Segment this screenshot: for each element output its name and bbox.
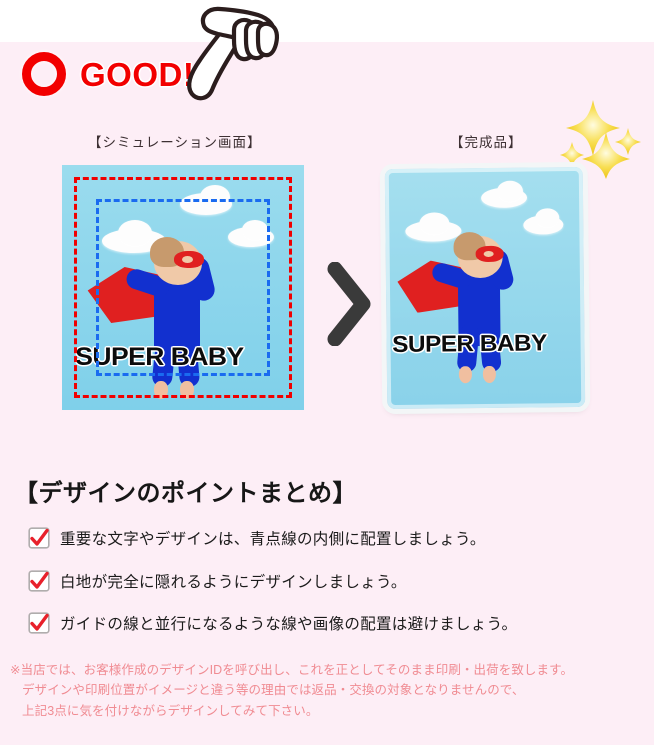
disclaimer-line-1: ※当店では、お客様作成のデザインIDを呼び出し、これを正としてそのまま印刷・出荷… — [10, 660, 650, 680]
chevron-right-icon — [324, 262, 372, 346]
mask-eyehole — [484, 251, 494, 257]
point-text: 白地が完全に隠れるようにデザインしましょう。 — [60, 570, 407, 592]
page-root: GOOD! 【シミュレーション画面】 【完成品】 — [0, 0, 654, 745]
points-title: 【デザインのポイントまとめ】 — [14, 473, 357, 508]
checkbox-checked-icon[interactable] — [28, 527, 50, 549]
blanket-product: SUPER BABY — [385, 167, 586, 409]
baby-foot — [483, 366, 496, 383]
point-item: 白地が完全に隠れるようにデザインしましょう。 — [28, 570, 407, 592]
finished-caption: 【完成品】 — [450, 131, 523, 151]
simulation-preview[interactable]: SUPER BABY — [62, 165, 304, 410]
point-item: ガイドの線と並行になるような線や画像の配置は避けましょう。 — [28, 612, 517, 634]
point-text: 重要な文字やデザインは、青点線の内側に配置しましょう。 — [60, 527, 486, 549]
artwork-title: SUPER BABY — [392, 329, 547, 358]
disclaimer-line-2: デザインや印刷位置がイメージと違う等の理由では返品・交換の対象となりませんので、 — [10, 680, 650, 700]
checkbox-checked-icon[interactable] — [28, 570, 50, 592]
disclaimer-note: ※当店では、お客様作成のデザインIDを呼び出し、これを正としてそのまま印刷・出荷… — [10, 660, 650, 721]
good-header: GOOD! — [22, 52, 194, 96]
inner-safe-guide — [96, 199, 270, 376]
point-text: ガイドの線と並行になるような線や画像の配置は避けましょう。 — [60, 612, 517, 634]
finished-preview[interactable]: SUPER BABY — [386, 168, 584, 408]
checkbox-checked-icon[interactable] — [28, 612, 50, 634]
circle-ok-icon — [22, 52, 66, 96]
simulation-caption: 【シミュレーション画面】 — [88, 131, 261, 151]
top-white-band — [0, 0, 654, 42]
disclaimer-line-3: 上記3点に気を付けながらデザインしてみて下さい。 — [10, 701, 650, 721]
pointing-hand-icon — [176, 2, 286, 102]
point-item: 重要な文字やデザインは、青点線の内側に配置しましょう。 — [28, 527, 486, 549]
baby-foot — [459, 366, 472, 383]
